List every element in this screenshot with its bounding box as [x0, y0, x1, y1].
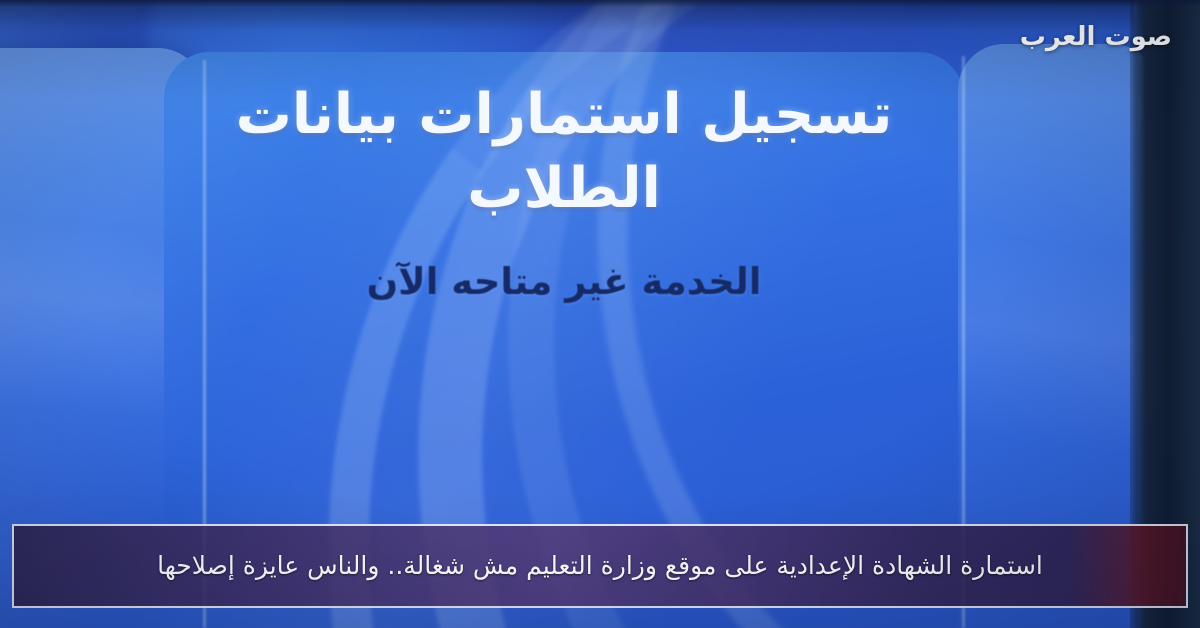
- page-title-line-1: تسجيل استمارات بيانات: [236, 82, 893, 147]
- top-edge-shadow: [0, 0, 1200, 7]
- service-status-message: الخدمة غير متاحه الآن: [164, 260, 964, 303]
- watermark-label: صوت العرب: [1020, 22, 1172, 52]
- page-title-line-2: الطلاب: [467, 156, 661, 221]
- screenshot-canvas: تسجيل استمارات بيانات الطلاب الخدمة غير …: [0, 0, 1200, 628]
- caption-banner: استمارة الشهادة الإعدادية على موقع وزارة…: [12, 524, 1188, 608]
- screen-message-block: تسجيل استمارات بيانات الطلاب الخدمة غير …: [164, 52, 964, 303]
- caption-text: استمارة الشهادة الإعدادية على موقع وزارة…: [157, 551, 1043, 581]
- page-title: تسجيل استمارات بيانات الطلاب: [164, 78, 964, 226]
